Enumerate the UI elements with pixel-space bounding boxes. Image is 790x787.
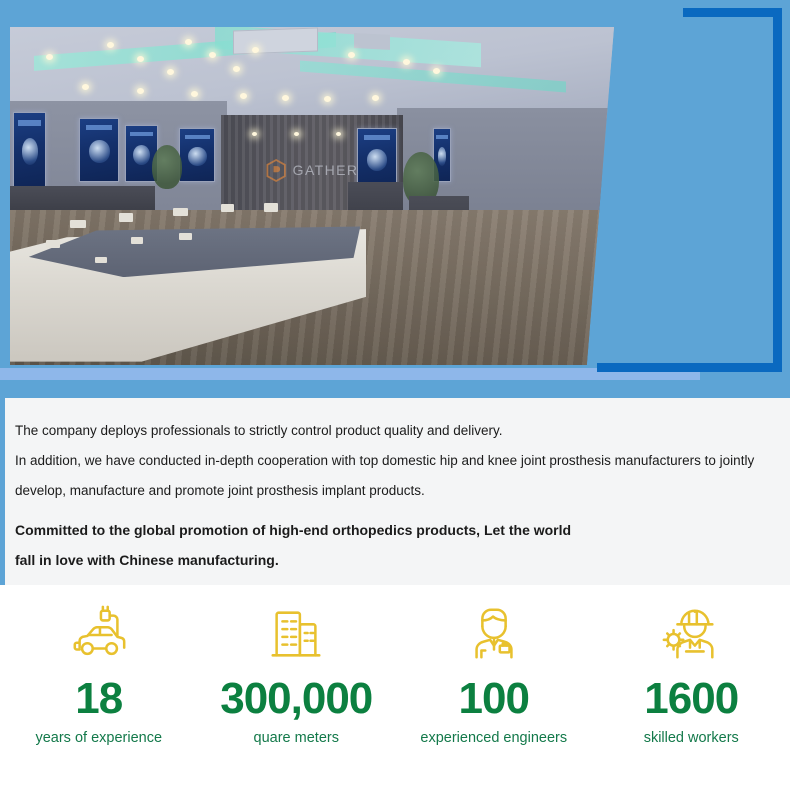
showroom-photo: GATHER bbox=[10, 27, 614, 365]
downlight-icon bbox=[240, 93, 247, 99]
downlight-icon bbox=[252, 132, 257, 136]
product-item bbox=[131, 237, 143, 244]
wall-poster bbox=[357, 128, 396, 189]
statistics-section: 18 years of experience 300,000 quare met… bbox=[0, 585, 790, 787]
ceiling-vent-panel bbox=[233, 27, 318, 54]
wall-poster bbox=[179, 128, 215, 182]
stat-label: skilled workers bbox=[644, 730, 739, 746]
stat-value: 300,000 bbox=[220, 677, 372, 721]
product-item bbox=[179, 233, 192, 240]
product-item bbox=[95, 257, 107, 263]
decorative-frame-corner bbox=[683, 8, 782, 372]
downlight-icon bbox=[137, 88, 144, 94]
wall-poster bbox=[79, 118, 118, 182]
downlight-icon bbox=[137, 56, 144, 62]
paragraph-spacer bbox=[15, 506, 776, 515]
gather-hexagon-logo-icon bbox=[266, 159, 287, 182]
potted-plant bbox=[152, 145, 182, 189]
stat-label: years of experience bbox=[35, 730, 162, 746]
stat-value: 1600 bbox=[644, 677, 738, 721]
downlight-icon bbox=[372, 95, 379, 101]
downlight-icon bbox=[252, 47, 259, 53]
product-item bbox=[221, 204, 234, 212]
gather-watermark: GATHER bbox=[266, 159, 359, 182]
highlight-line-2: fall in love with Chinese manufacturing. bbox=[15, 545, 776, 575]
product-item bbox=[70, 220, 86, 228]
wall-poster bbox=[13, 112, 46, 190]
electric-car-charging-icon bbox=[68, 603, 130, 665]
downlight-icon bbox=[294, 132, 299, 136]
engineer-person-icon bbox=[463, 603, 525, 665]
downlight-icon bbox=[336, 132, 341, 136]
description-section: The company deploys professionals to str… bbox=[0, 398, 790, 585]
product-item bbox=[173, 208, 188, 216]
stat-item-years-of-experience: 18 years of experience bbox=[0, 585, 198, 787]
ceiling-vent-panel-small bbox=[354, 33, 390, 50]
stat-item-experienced-engineers: 100 experienced engineers bbox=[395, 585, 593, 787]
showroom-photo-image: GATHER bbox=[10, 27, 614, 365]
construction-worker-gear-icon bbox=[660, 603, 722, 665]
office-building-icon bbox=[265, 603, 327, 665]
stat-item-square-meters: 300,000 quare meters bbox=[198, 585, 396, 787]
stat-value: 100 bbox=[459, 677, 529, 721]
stat-label: quare meters bbox=[254, 730, 339, 746]
description-paragraph-2: In addition, we have conducted in-depth … bbox=[15, 446, 776, 506]
downlight-icon bbox=[107, 42, 114, 48]
downlight-icon bbox=[185, 39, 192, 45]
highlight-line-1: Committed to the global promotion of hig… bbox=[15, 515, 776, 545]
product-item bbox=[264, 203, 278, 212]
stat-item-skilled-workers: 1600 skilled workers bbox=[593, 585, 790, 787]
hero-section: GATHER bbox=[0, 0, 790, 398]
hero-accent-strip bbox=[0, 368, 700, 380]
downlight-icon bbox=[282, 95, 289, 101]
product-item bbox=[46, 240, 60, 248]
gather-watermark-text: GATHER bbox=[293, 162, 359, 178]
downlight-icon bbox=[403, 59, 410, 65]
downlight-icon bbox=[433, 68, 440, 74]
company-profile-page: GATHER The company deploys professionals… bbox=[0, 0, 790, 787]
product-item bbox=[119, 213, 133, 222]
stat-label: experienced engineers bbox=[420, 730, 567, 746]
description-paragraph-1: The company deploys professionals to str… bbox=[15, 416, 776, 446]
stat-value: 18 bbox=[75, 677, 122, 721]
